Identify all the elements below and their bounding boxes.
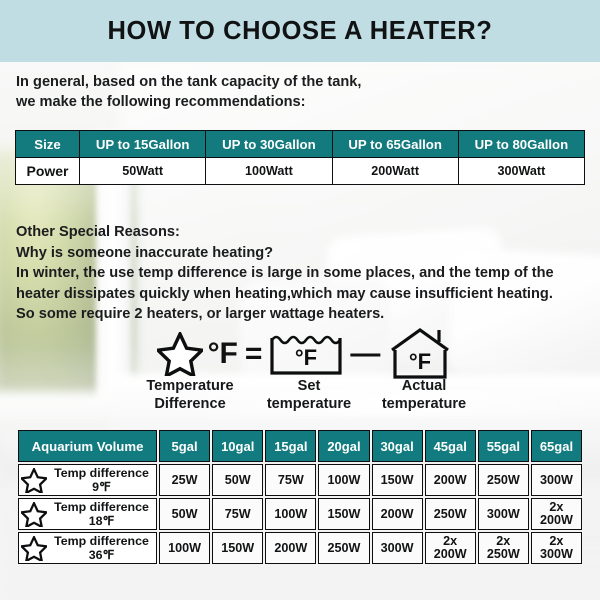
header-aquarium-volume: Aquarium Volume (18, 430, 157, 462)
paragraph-line-1: Other Special Reasons: (16, 222, 592, 243)
row-label-temp-difference-1: Temp difference9℉ (18, 464, 157, 496)
cell-10gal-row2: 75W (212, 498, 263, 530)
cell-10gal-row3: 150W (212, 532, 263, 564)
header-up-to-65gallon: UP to 65Gallon (332, 131, 458, 158)
intro-line-2: we make the following recommendations: (16, 92, 586, 112)
cell-55gal-row2: 300W (478, 498, 529, 530)
row-label-text: Temp difference9℉ (48, 466, 155, 494)
cell-20gal-row3: 250W (318, 532, 369, 564)
intro-text: In general, based on the tank capacity o… (16, 72, 586, 112)
table-row: Temp difference9℉25W50W75W100W150W200W25… (18, 464, 582, 496)
reasons-paragraph: Other Special Reasons: Why is someone in… (16, 222, 592, 325)
cell-20gal-row2: 150W (318, 498, 369, 530)
header-55gal: 55gal (478, 430, 529, 462)
star-icon (157, 332, 203, 376)
cell-10gal-row1: 50W (212, 464, 263, 496)
caption-line-2: temperature (368, 396, 480, 414)
cell-15gal-row1: 75W (265, 464, 316, 496)
table-row: Temp difference18℉50W75W100W150W200W250W… (18, 498, 582, 530)
house-icon: °F (387, 328, 453, 380)
header-up-to-15gallon: UP to 15Gallon (80, 131, 206, 158)
header-5gal: 5gal (159, 430, 210, 462)
caption-actual-temperature: Actual temperature (368, 378, 480, 413)
cell-30gal-row1: 150W (372, 464, 423, 496)
cell-5gal-row3: 100W (159, 532, 210, 564)
caption-line-2: Difference (130, 396, 250, 414)
cell-15gal-row3: 200W (265, 532, 316, 564)
cell-power-65gallon: 200Watt (332, 158, 458, 185)
page-title: HOW TO CHOOSE A HEATER? (0, 0, 600, 62)
row-label-power: Power (16, 158, 80, 185)
formula-captions: Temperature Difference Set temperature A… (130, 378, 480, 413)
caption-set-temperature: Set temperature (250, 378, 368, 413)
paragraph-line-3: In winter, the use temp difference is la… (16, 263, 592, 284)
cell-65gal-row1: 300W (531, 464, 582, 496)
equals-sign: = (243, 339, 265, 369)
header-20gal: 20gal (318, 430, 369, 462)
cell-55gal-row1: 250W (478, 464, 529, 496)
minus-sign: — (348, 339, 382, 369)
caption-line-1: Set (250, 378, 368, 396)
header-30gal: 30gal (372, 430, 423, 462)
paragraph-line-5: So some require 2 heaters, or larger wat… (16, 304, 592, 325)
intro-line-1: In general, based on the tank capacity o… (16, 72, 586, 92)
caption-temperature-difference: Temperature Difference (130, 378, 250, 413)
cell-65gal-row2: 2x200W (531, 498, 582, 530)
cell-55gal-row3: 2x250W (478, 532, 529, 564)
wattage-table: Aquarium Volume5gal10gal15gal20gal30gal4… (16, 428, 584, 566)
caption-line-1: Temperature (130, 378, 250, 396)
cell-30gal-row2: 200W (372, 498, 423, 530)
cell-20gal-row1: 100W (318, 464, 369, 496)
header-size: Size (16, 131, 80, 158)
paragraph-line-4: heater dissipates quickly when heating,w… (16, 284, 592, 305)
water-tank-icon: °F (269, 332, 343, 376)
caption-line-2: temperature (250, 396, 368, 414)
header-45gal: 45gal (425, 430, 476, 462)
cell-45gal-row2: 250W (425, 498, 476, 530)
svg-text:°F: °F (295, 345, 317, 370)
capacity-table: Size UP to 15Gallon UP to 30Gallon UP to… (15, 130, 585, 185)
row-label-temp-difference-2: Temp difference18℉ (18, 498, 157, 530)
row-label-text: Temp difference18℉ (48, 500, 155, 528)
caption-line-1: Actual (368, 378, 480, 396)
header-15gal: 15gal (265, 430, 316, 462)
header-up-to-30gallon: UP to 30Gallon (206, 131, 332, 158)
table-header-row: Size UP to 15Gallon UP to 30Gallon UP to… (16, 131, 585, 158)
wattage-table-body: Temp difference9℉25W50W75W100W150W200W25… (18, 464, 582, 564)
star-icon (21, 536, 47, 561)
table-row: Power 50Watt 100Watt 200Watt 300Watt (16, 158, 585, 185)
cell-5gal-row2: 50W (159, 498, 210, 530)
cell-15gal-row2: 100W (265, 498, 316, 530)
cell-power-30gallon: 100Watt (206, 158, 332, 185)
header-up-to-80gallon: UP to 80Gallon (458, 131, 584, 158)
header-banner: HOW TO CHOOSE A HEATER? (0, 0, 600, 62)
header-10gal: 10gal (212, 430, 263, 462)
header-65gal: 65gal (531, 430, 582, 462)
paragraph-line-2: Why is someone inaccurate heating? (16, 243, 592, 264)
temperature-formula: °F = °F — °F (130, 328, 480, 380)
cell-power-80gallon: 300Watt (458, 158, 584, 185)
star-unit-label: °F (208, 339, 238, 369)
cell-30gal-row3: 300W (372, 532, 423, 564)
cell-45gal-row3: 2x200W (425, 532, 476, 564)
table-header-row: Aquarium Volume5gal10gal15gal20gal30gal4… (18, 430, 582, 462)
cell-45gal-row1: 200W (425, 464, 476, 496)
cell-65gal-row3: 2x300W (531, 532, 582, 564)
row-label-temp-difference-3: Temp difference36℉ (18, 532, 157, 564)
row-label-text: Temp difference36℉ (48, 534, 155, 562)
cell-power-15gallon: 50Watt (80, 158, 206, 185)
star-icon (21, 468, 47, 493)
svg-text:°F: °F (409, 349, 431, 374)
table-row: Temp difference36℉100W150W200W250W300W2x… (18, 532, 582, 564)
cell-5gal-row1: 25W (159, 464, 210, 496)
star-icon (21, 502, 47, 527)
